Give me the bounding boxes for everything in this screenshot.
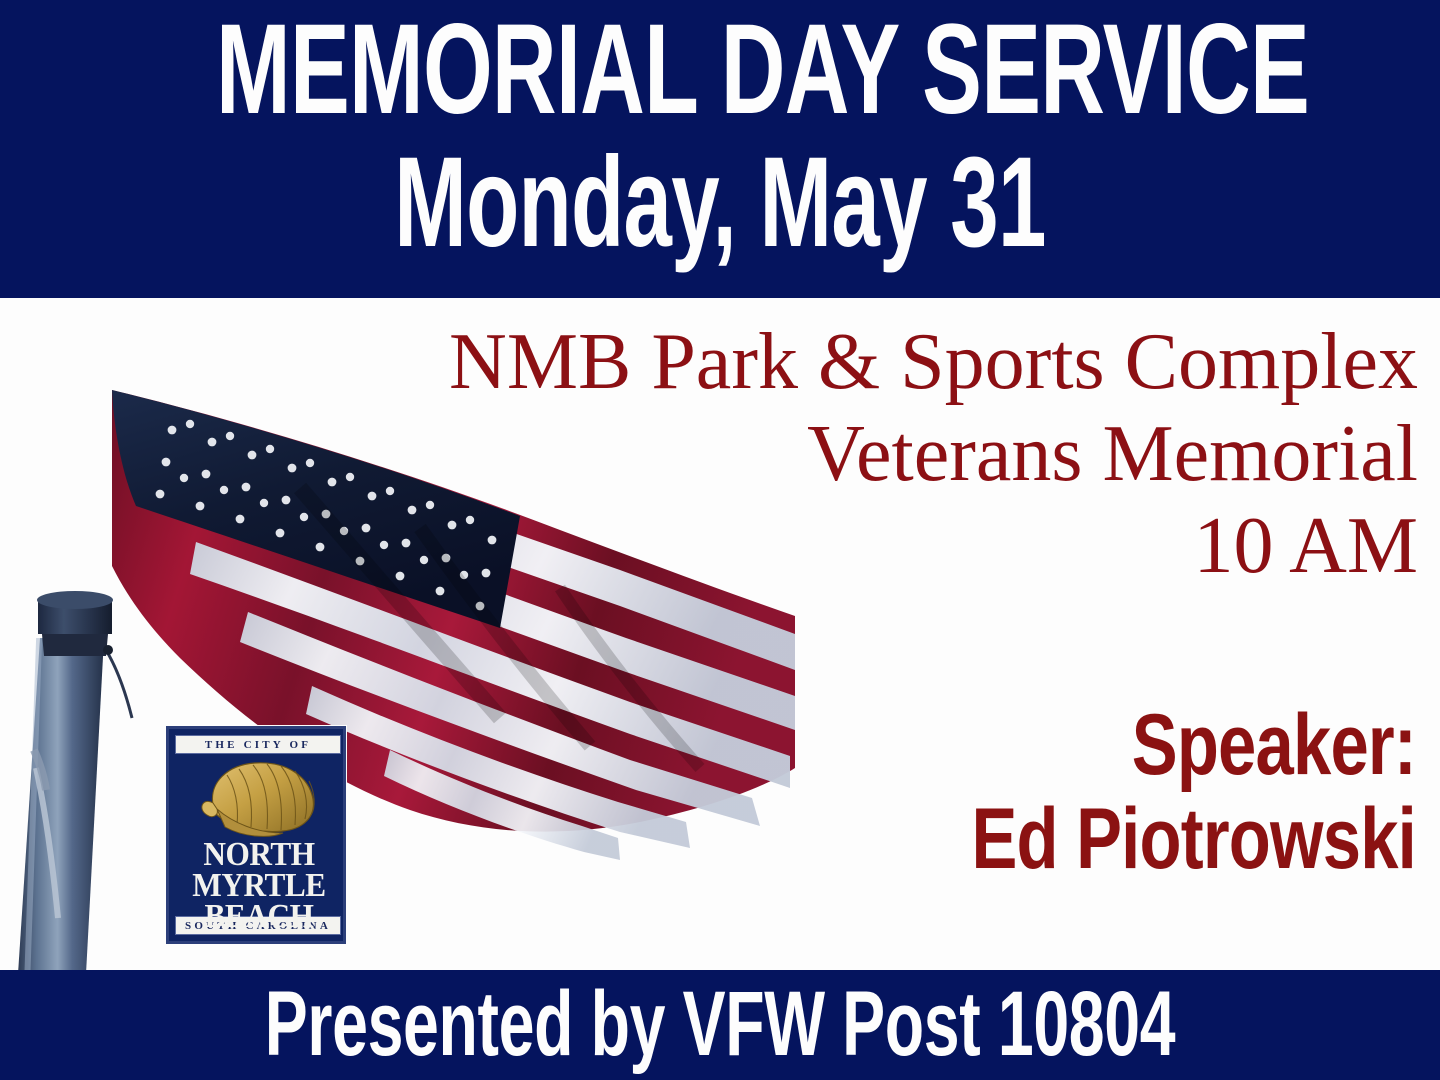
memorial-day-service-poster: NMB Park & Sports Complex Veterans Memor…	[0, 0, 1440, 1080]
speaker-name: Ed Piotrowski	[904, 792, 1416, 886]
logo-top-text: THE CITY OF	[205, 739, 311, 751]
logo-name-line-beach: BEACH	[176, 901, 342, 932]
poster-headline: MEMORIAL DAY SERVICE	[216, 6, 1224, 134]
city-of-north-myrtle-beach-logo: THE CITY OF	[166, 726, 346, 944]
poster-body: NMB Park & Sports Complex Veterans Memor…	[0, 298, 1440, 972]
event-details: NMB Park & Sports Complex Veterans Memor…	[118, 316, 1418, 592]
event-time: 10 AM	[118, 500, 1418, 592]
conch-shell-icon	[183, 757, 335, 839]
poster-subhead: Monday, May 31	[230, 138, 1209, 268]
bottom-banner: Presented by VFW Post 10804	[0, 970, 1440, 1080]
top-banner: MEMORIAL DAY SERVICE Monday, May 31	[0, 0, 1440, 298]
logo-name-line-north: NORTH	[176, 839, 342, 870]
logo-top-strip: THE CITY OF	[175, 735, 341, 754]
logo-name-line-myrtle: MYRTLE	[176, 870, 342, 901]
speaker-label: Speaker:	[904, 698, 1416, 792]
event-memorial: Veterans Memorial	[118, 408, 1418, 500]
event-venue: NMB Park & Sports Complex	[118, 316, 1418, 408]
presented-by-text: Presented by VFW Post 10804	[216, 976, 1224, 1072]
speaker-block: Speaker: Ed Piotrowski	[776, 698, 1416, 886]
logo-city-name: NORTH MYRTLE BEACH	[169, 839, 346, 932]
